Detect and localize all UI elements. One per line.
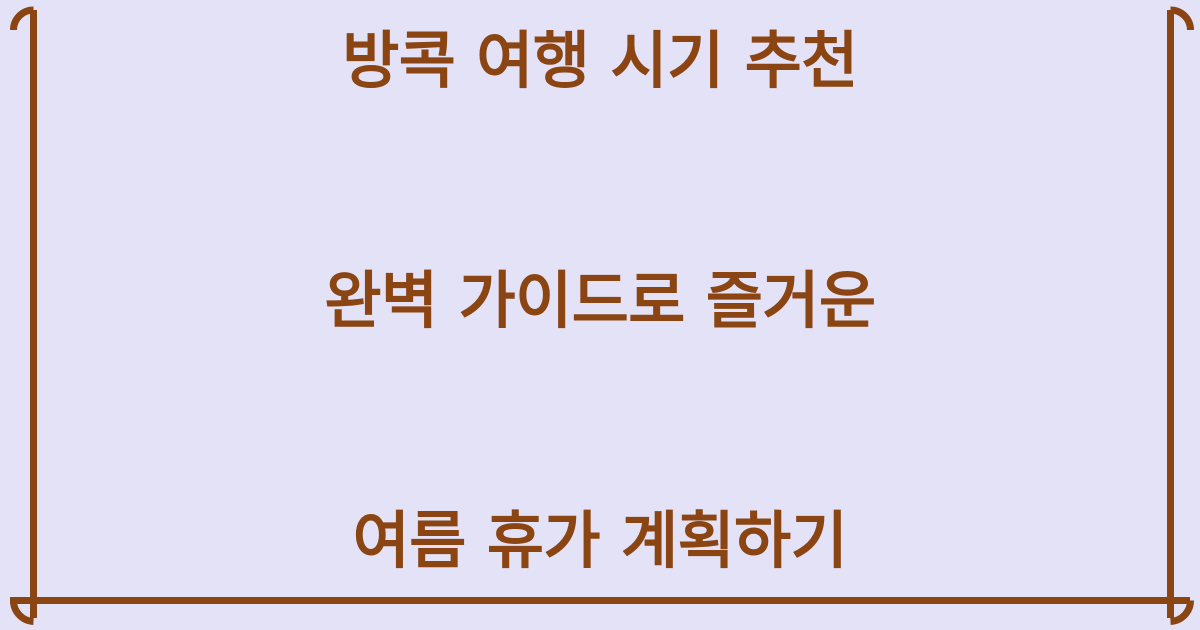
social-card: 방콕 여행 시기 추천 완벽 가이드로 즐거운 여름 휴가 계획하기: [0, 0, 1200, 630]
page-title: 방콕 여행 시기 추천 완벽 가이드로 즐거운 여름 휴가 계획하기: [324, 0, 875, 630]
title-line-2: 완벽 가이드로 즐거운: [324, 261, 875, 341]
title-line-1: 방콕 여행 시기 추천: [324, 21, 875, 101]
title-container: 방콕 여행 시기 추천 완벽 가이드로 즐거운 여름 휴가 계획하기: [0, 0, 1200, 630]
title-line-3: 여름 휴가 계획하기: [324, 501, 875, 581]
